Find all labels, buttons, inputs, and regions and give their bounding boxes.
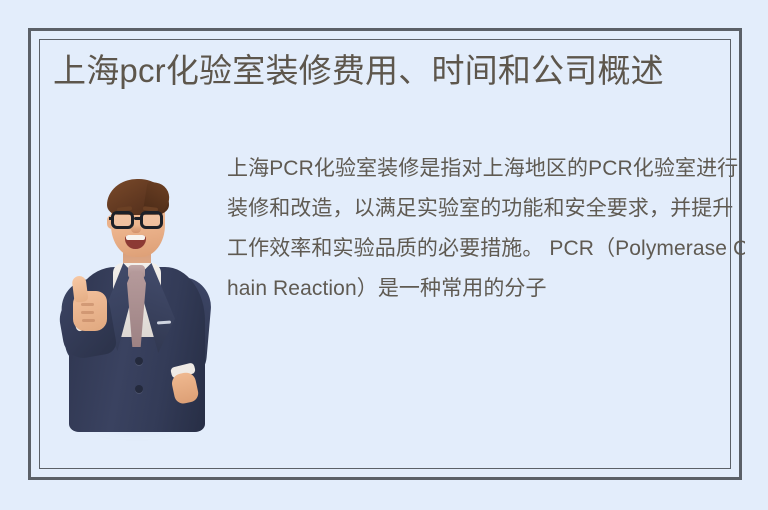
article-body: 上海PCR化验室装修是指对上海地区的PCR化验室进行装修和改造，以满足实验室的功…	[31, 149, 745, 479]
nose	[131, 225, 141, 233]
jacket-button-lower	[135, 385, 143, 393]
card-content: 上海pcr化验室装修费用、时间和公司概述	[31, 31, 745, 483]
teeth	[126, 235, 145, 240]
knuckle-line	[82, 319, 95, 322]
knuckle-line	[81, 311, 94, 314]
jacket-button-upper	[135, 357, 143, 365]
knuckle-line	[81, 303, 94, 306]
content-card: 上海pcr化验室装修费用、时间和公司概述	[28, 28, 742, 480]
businessman-thumbs-up-illustration	[61, 167, 213, 432]
glasses-lens-right	[140, 211, 163, 229]
article-paragraph: 上海PCR化验室装修是指对上海地区的PCR化验室进行装修和改造，以满足实验室的功…	[227, 149, 745, 309]
page-title: 上海pcr化验室装修费用、时间和公司概述	[53, 48, 745, 94]
